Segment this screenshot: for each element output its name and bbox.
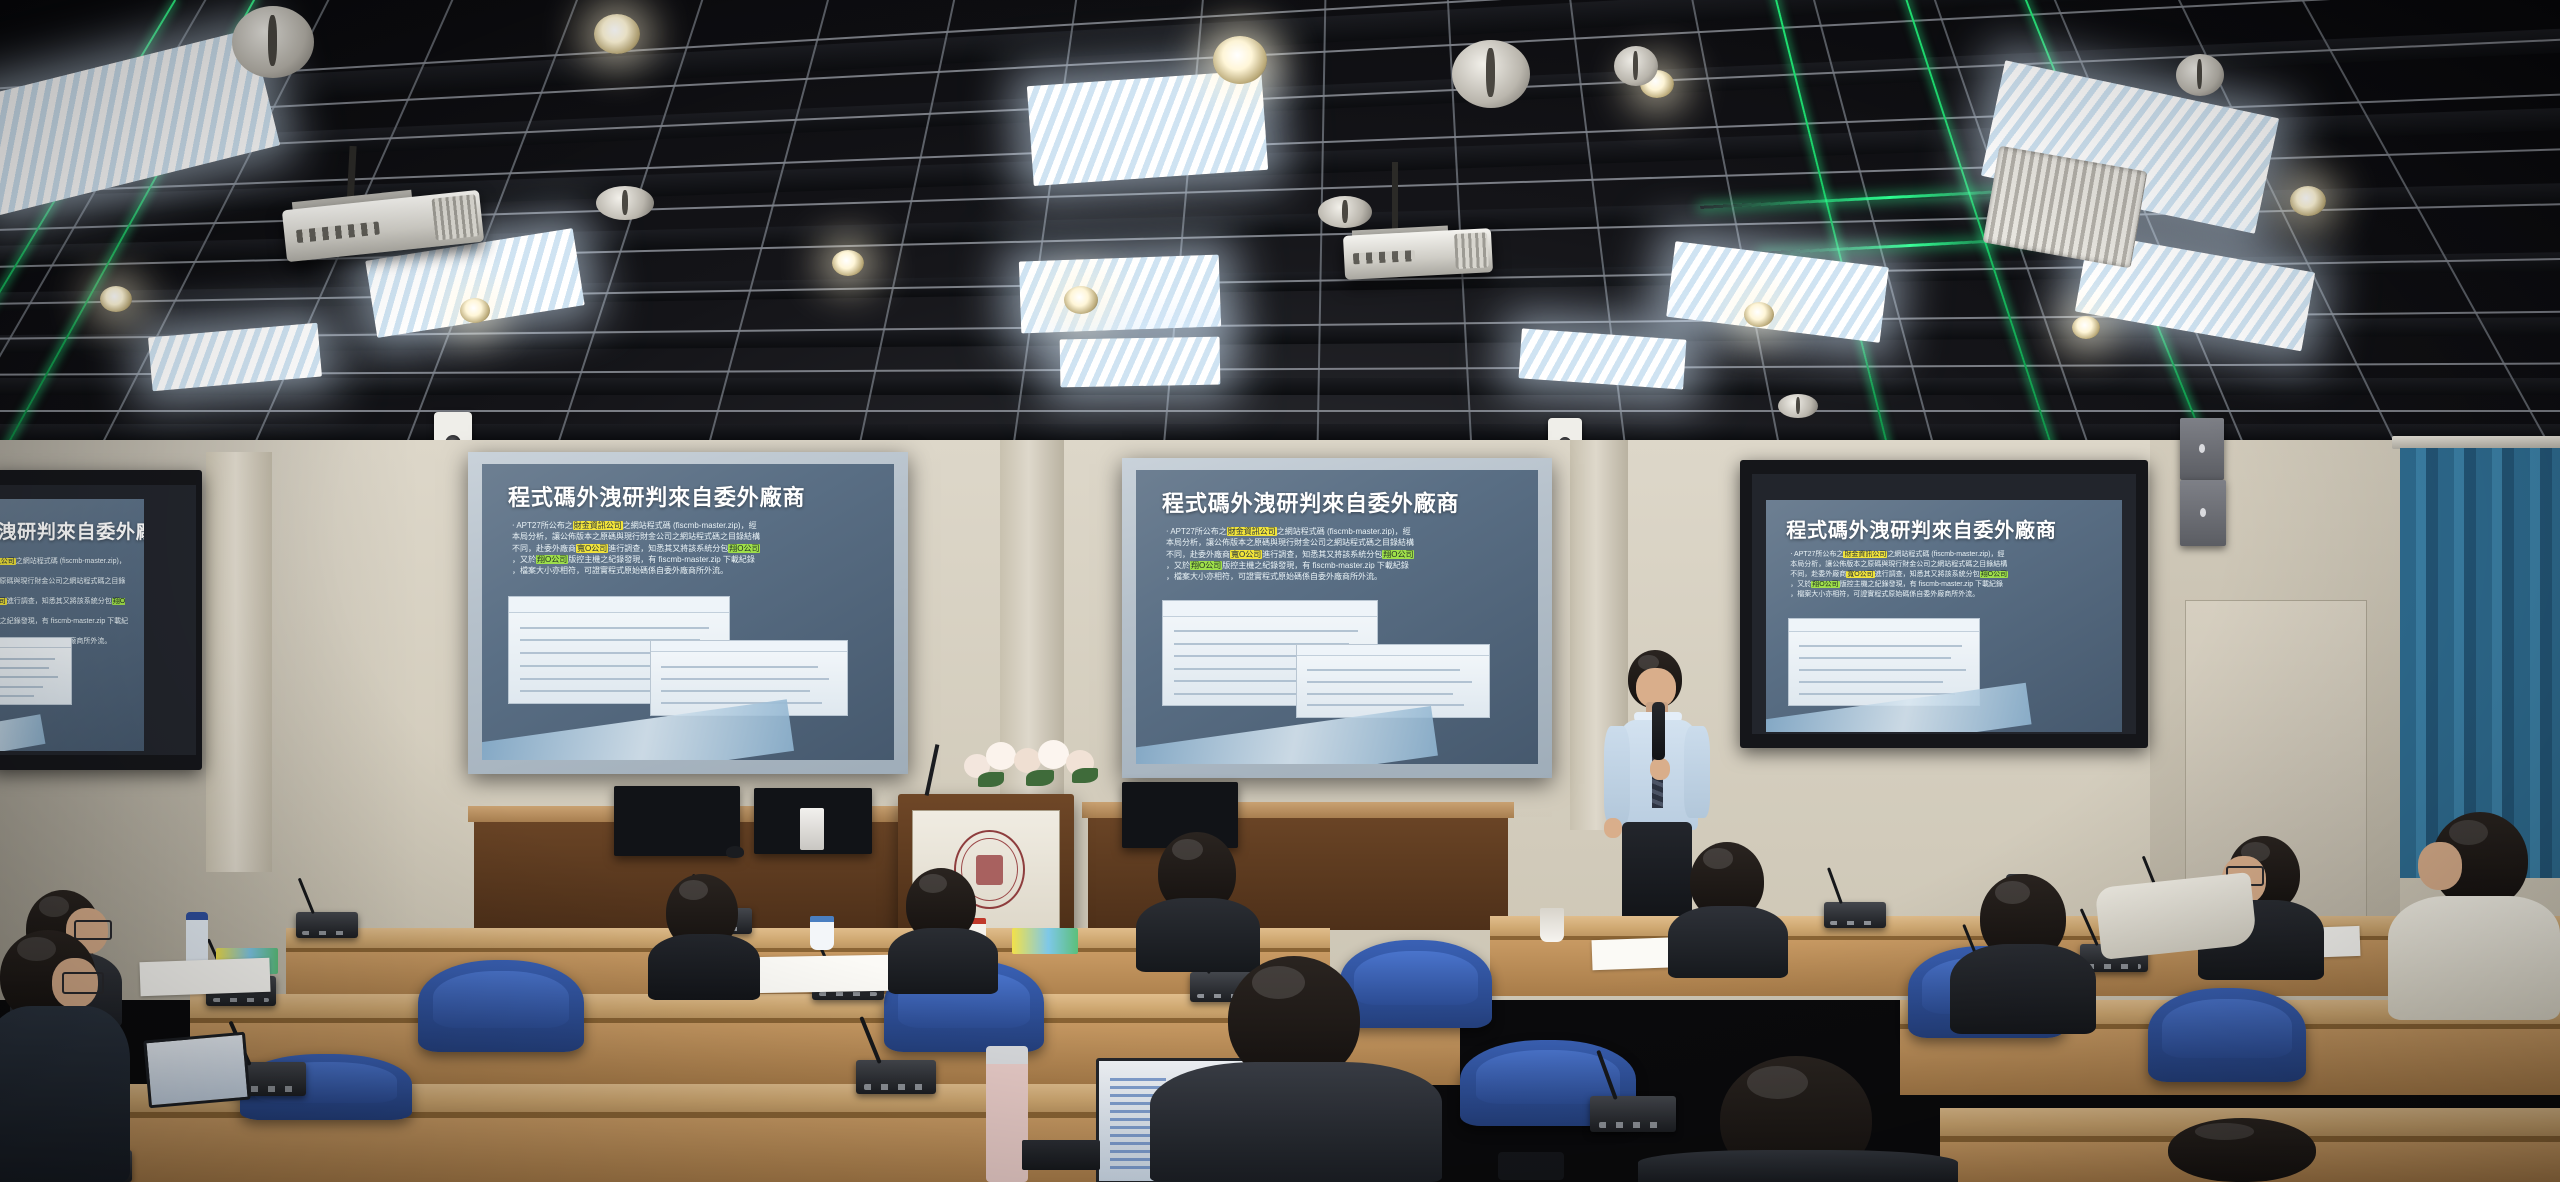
slide-title: 程式碼外洩研判來自委外廠商 [508, 480, 805, 512]
wall-pillar-left [206, 452, 272, 872]
ceiling-speaker [1614, 46, 1658, 86]
smartphone[interactable] [1498, 1152, 1564, 1180]
chair[interactable] [2148, 988, 2306, 1082]
slide-title: 程式碼外洩研判來自委外廠商 [0, 517, 144, 544]
ceiling-downlight [460, 298, 490, 323]
ceiling-downlight [832, 250, 864, 276]
slide-line: ，檔案大小亦相符，可證實程式原始碼係自委外廠商所外流。 [1166, 571, 1516, 582]
slide-line: ‧ APT27所公布之財金資訊公司之網站程式碼 (fiscmb-master.z… [1790, 550, 2100, 560]
flower-arrangement [960, 736, 1110, 794]
slide-body: ‧ APT27所公布之財金資訊公司之網站程式碼 (fiscmb-master.z… [512, 520, 870, 577]
ceiling-panel-light [1060, 337, 1221, 388]
ceiling-downlight [100, 286, 132, 312]
wall-monitor-right[interactable]: 程式碼外洩研判來自委外廠商 ‧ APT27所公布之財金資訊公司之網站程式碼 (f… [1740, 460, 2148, 748]
slide-line: ，又於翔O公司版控主機之紀錄發現，有 fiscmb-master.zip 下載紀… [0, 617, 130, 637]
slide-line: 不同，赴委外廠商寬O公司進行調查，知悉其又將該系統分包翔O公司 [1790, 570, 2100, 580]
slide-surface: 程式碼外洩研判來自委外廠商 APT27所公布之財金資訊公司之網站程式碼 (fis… [0, 499, 144, 751]
slide-line: 不同，赴委外廠商寬O公司進行調查，知悉其又將該系統分包翔O公司 [0, 597, 130, 617]
front-monitor-left[interactable] [614, 786, 740, 856]
slide-line: 本局分析，讓公佈版本之原碼與現行財金公司之網站程式碼之目錄結構 [1790, 560, 2100, 570]
paper-cup [1540, 908, 1564, 942]
presenter-trousers [1622, 822, 1692, 920]
slide-line: 不同，赴委外廠商寬O公司進行調查，知悉其又將該系統分包翔O公司 [512, 543, 870, 554]
presenter-hand-left [1604, 818, 1622, 838]
wall-speaker-upper [2180, 418, 2224, 480]
slide-line: 本局分析，讓公佈版本之原碼與現行財金公司之網站程式碼之目錄結構 [0, 577, 130, 597]
slide-surface: 程式碼外洩研判來自委外廠商 ‧ APT27所公布之財金資訊公司之網站程式碼 (f… [1766, 500, 2122, 732]
slide-line: ‧ APT27所公布之財金資訊公司之網站程式碼 (fiscmb-master.z… [512, 520, 870, 531]
ceiling-downlight [2072, 316, 2100, 339]
ceiling-downlight [2290, 186, 2326, 216]
desk-mouse[interactable] [726, 846, 744, 858]
slide-line: ，檔案大小亦相符，可證實程式原始碼係自委外廠商所外流。 [1790, 590, 2100, 600]
slide-surface: 程式碼外洩研判來自委外廠商 ‧ APT27所公布之財金資訊公司之網站程式碼 (f… [482, 464, 894, 760]
name-card [1012, 928, 1078, 954]
slide-line: 本局分析，讓公佈版本之原碼與現行財金公司之網站程式碼之目錄結構 [512, 531, 870, 542]
projection-screen-left[interactable]: 程式碼外洩研判來自委外廠商 ‧ APT27所公布之財金資訊公司之網站程式碼 (f… [468, 452, 908, 774]
ceiling-downlight [1213, 36, 1267, 84]
presenter-hand-right [1650, 758, 1670, 780]
ceiling-panel-light [1019, 255, 1221, 334]
slide-title: 程式碼外洩研判來自委外廠商 [1162, 486, 1459, 518]
wall-speaker-lower [2180, 480, 2226, 546]
document-sheet [139, 958, 270, 997]
chair[interactable] [418, 960, 584, 1052]
slide-title: 程式碼外洩研判來自委外廠商 [1786, 514, 2056, 543]
dell-device [800, 808, 824, 850]
ceiling-downlight [1744, 302, 1774, 327]
slide-body: ‧ APT27所公布之財金資訊公司之網站程式碼 (fiscmb-master.z… [1166, 526, 1516, 583]
slide-line: ‧ APT27所公布之財金資訊公司之網站程式碼 (fiscmb-master.z… [1166, 526, 1516, 537]
ceiling-speaker [1318, 196, 1372, 228]
ceiling-downlight [594, 14, 640, 54]
slide-line: 本局分析，讓公佈版本之原碼與現行財金公司之網站程式碼之目錄結構 [1166, 537, 1516, 548]
handheld-microphone[interactable] [1652, 702, 1665, 760]
wall-monitor-left[interactable]: 程式碼外洩研判來自委外廠商 APT27所公布之財金資訊公司之網站程式碼 (fis… [0, 470, 202, 770]
lecture-hall-photo: 程式碼外洩研判來自委外廠商 APT27所公布之財金資訊公司之網站程式碼 (fis… [0, 0, 2560, 1182]
slide-body: ‧ APT27所公布之財金資訊公司之網站程式碼 (fiscmb-master.z… [1790, 550, 2100, 600]
ceiling-speaker [1452, 40, 1530, 108]
slide-line: ，又於翔O公司版控主機之紀錄發現，有 fiscmb-master.zip 下載紀… [512, 554, 870, 565]
slide-line: ，又於翔O公司版控主機之紀錄發現，有 fiscmb-master.zip 下載紀… [1790, 580, 2100, 590]
slide-screenshot [0, 637, 72, 705]
ceiling-speaker [596, 186, 654, 220]
presenter-arm-right [1684, 726, 1710, 818]
ceiling-downlight [1064, 286, 1098, 314]
slide-line: ，又於翔O公司版控主機之紀錄發現，有 fiscmb-master.zip 下載紀… [1166, 560, 1516, 571]
slide-line: ，檔案大小亦相符，可證實程式原始碼係自委外廠商所外流。 [512, 565, 870, 576]
ceiling-speaker [2176, 54, 2224, 96]
document-sheet [740, 955, 897, 994]
eyeglasses [74, 920, 112, 940]
projection-screen-center[interactable]: 程式碼外洩研判來自委外廠商 ‧ APT27所公布之財金資訊公司之網站程式碼 (f… [1122, 458, 1552, 778]
slide-line: 不同，赴委外廠商寬O公司進行調查，知悉其又將該系統分包翔O公司 [1166, 549, 1516, 560]
ceiling-speaker [232, 6, 314, 78]
ceiling-grid [0, 0, 2560, 455]
eyeglasses [62, 972, 104, 994]
slide-surface: 程式碼外洩研判來自委外廠商 ‧ APT27所公布之財金資訊公司之網站程式碼 (f… [1136, 470, 1538, 764]
tablet-device[interactable] [143, 1032, 251, 1109]
chair[interactable] [1340, 940, 1492, 1028]
slide-screenshot-2 [1296, 644, 1490, 718]
slide-line: APT27所公布之財金資訊公司之網站程式碼 (fiscmb-master.zip… [0, 557, 130, 577]
slide-body: APT27所公布之財金資訊公司之網站程式碼 (fiscmb-master.zip… [0, 557, 130, 646]
ceiling-panel-light [1027, 70, 1268, 186]
paper-cup [810, 916, 834, 950]
presenter-arm-left [1604, 726, 1630, 824]
notebook [1022, 1140, 1100, 1170]
ceiling-speaker [1778, 394, 1818, 418]
